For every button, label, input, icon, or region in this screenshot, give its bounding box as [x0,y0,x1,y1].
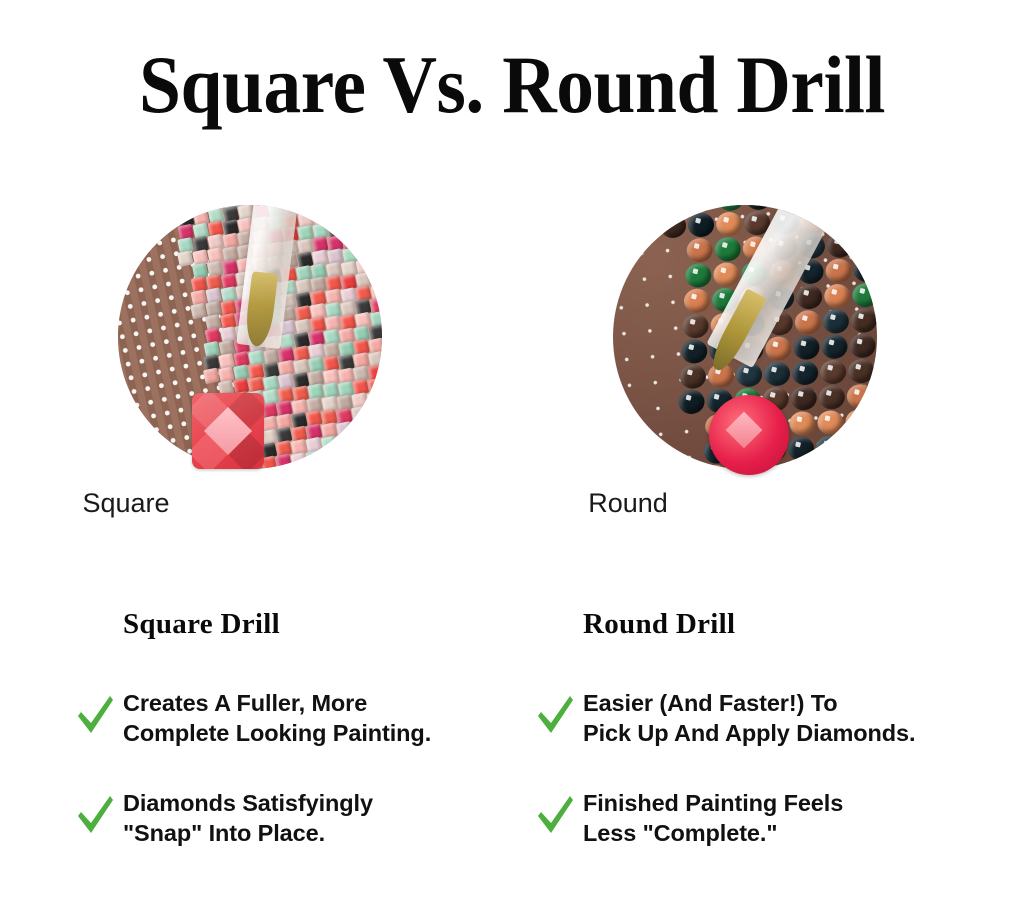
round-bead [871,433,877,460]
round-bead [854,232,877,259]
square-bead [380,456,382,469]
round-bead [873,408,877,435]
round-bead [763,361,791,388]
round-bead [788,410,816,437]
round-bead [659,213,687,240]
photo-comparison-row [0,205,1024,475]
square-bead [177,251,194,268]
square-drill-photo-cell [0,205,512,475]
list-item: Finished Painting Feels Less "Complete." [535,788,995,848]
round-bead [660,205,688,214]
bullet-line: Creates A Fuller, More [123,688,431,718]
round-bead [822,308,850,335]
round-bead [714,236,742,263]
round-bead [682,313,710,340]
list-item: Diamonds Satisfyingly "Snap" Into Place. [75,788,495,848]
list-item-text: Creates A Fuller, More Complete Looking … [123,688,431,748]
list-item: Creates A Fuller, More Complete Looking … [75,688,495,748]
square-gem-icon [192,393,264,469]
round-bead [815,435,843,462]
round-bead [818,384,846,411]
round-bead [816,409,844,436]
photo-caption-round: Round [512,488,1024,519]
round-bead [875,357,877,384]
bullet-list-square-drill: Creates A Fuller, More Complete Looking … [75,688,495,888]
check-icon [75,792,115,838]
round-bead [795,284,823,311]
round-bead [715,211,743,238]
bullet-line: "Snap" Into Place. [123,818,373,848]
round-bead [678,389,706,416]
bullet-line: Easier (And Faster!) To [583,688,915,718]
bullet-line: Pick Up And Apply Diamonds. [583,718,915,748]
round-bead [821,334,849,361]
round-bead [849,333,877,360]
round-bead [791,360,819,387]
square-bead [275,454,292,469]
bullet-list-round-drill: Easier (And Faster!) To Pick Up And Appl… [535,688,995,888]
round-bead [855,206,877,233]
bullet-line: Finished Painting Feels [583,788,843,818]
round-bead [792,335,820,362]
bullet-line: Complete Looking Painting. [123,718,431,748]
round-bead [814,460,842,469]
list-item-text: Finished Painting Feels Less "Complete." [583,788,843,848]
round-bead [853,257,877,284]
round-bead [683,288,711,315]
photo-caption-square: Square [0,488,512,519]
round-bead [684,262,712,289]
round-gem-icon [709,395,789,475]
wax-tip [243,271,278,348]
round-bead [794,309,822,336]
round-bead [680,338,708,365]
check-icon [75,692,115,738]
bullet-line: Diamonds Satisfyingly [123,788,373,818]
round-bead [790,385,818,412]
round-bead [819,359,847,386]
round-bead [826,232,854,259]
list-item-text: Easier (And Faster!) To Pick Up And Appl… [583,688,915,748]
round-bead [786,461,814,469]
round-bead [687,212,715,239]
round-bead [679,364,707,391]
round-bead [874,382,877,409]
page-title: Square Vs. Round Drill [41,44,983,126]
column-heading-square-drill: Square Drill [123,608,280,641]
round-bead [842,459,870,469]
round-bead [870,458,877,469]
round-bead [825,258,853,285]
check-icon [535,692,575,738]
list-item: Easier (And Faster!) To Pick Up And Appl… [535,688,995,748]
round-bead [712,261,740,288]
check-icon [535,792,575,838]
round-bead [851,282,877,309]
list-item-text: Diamonds Satisfyingly "Snap" Into Place. [123,788,373,848]
round-bead [764,335,792,362]
round-bead [845,408,873,435]
round-bead [686,237,714,264]
round-bead [823,283,851,310]
round-drill-photo-cell [512,205,1024,475]
round-bead [846,383,874,410]
bullet-line: Less "Complete." [583,818,843,848]
round-bead [843,434,871,461]
round-bead [850,307,877,334]
round-bead [787,436,815,463]
round-bead [847,358,875,385]
column-heading-round-drill: Round Drill [583,608,735,641]
